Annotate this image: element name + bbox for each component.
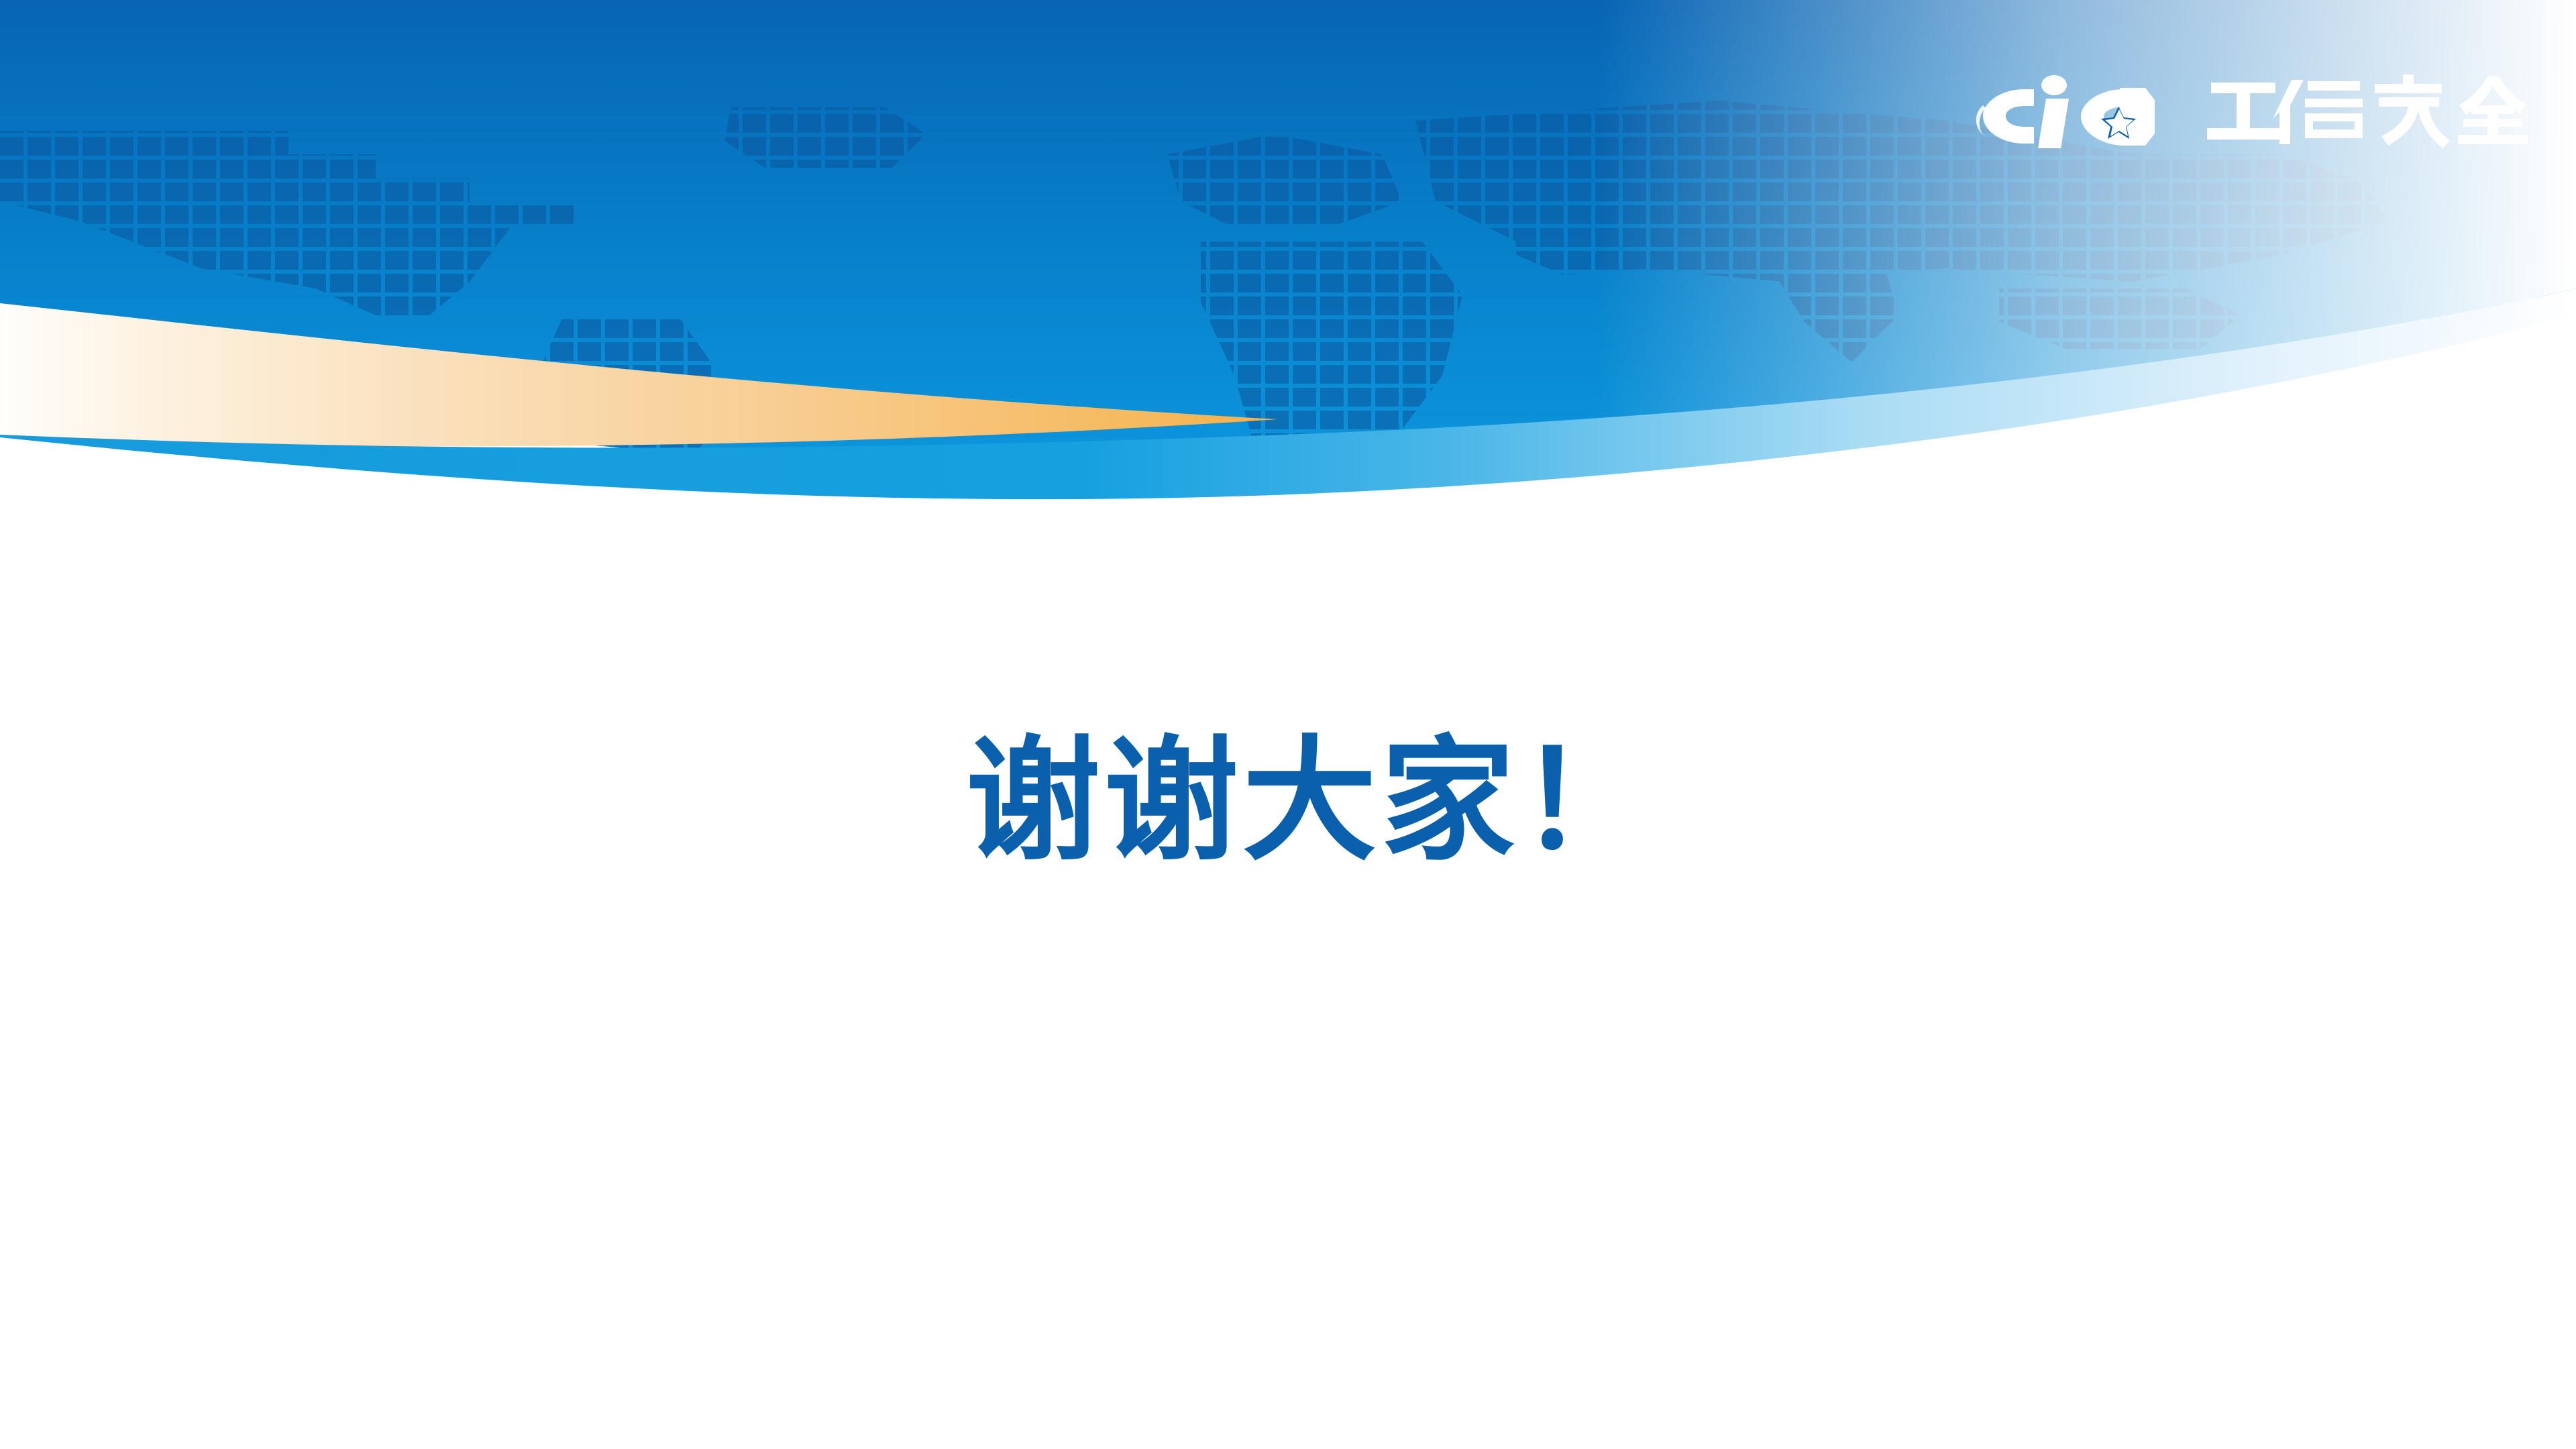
title-area: 谢谢大家！ [0, 731, 2576, 932]
logo-wordmark-icon [2206, 70, 2528, 154]
page-title: 谢谢大家！ [966, 731, 1657, 872]
cic-logo-icon [1960, 65, 2188, 159]
header-banner [0, 0, 2576, 537]
brand-logo [1960, 62, 2528, 162]
slide-root: 谢谢大家！ [0, 0, 2576, 1449]
